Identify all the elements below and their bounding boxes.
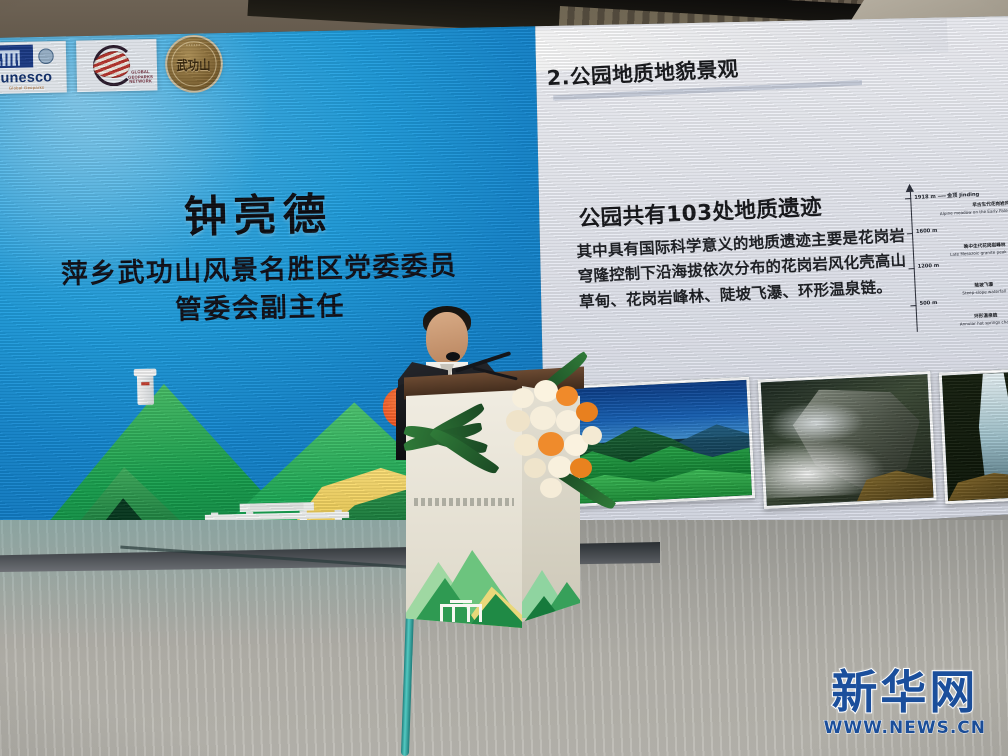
peak-name-zh: 金顶 bbox=[947, 193, 958, 200]
seal-arc-text: •••••• bbox=[167, 42, 221, 48]
unesco-wordmark: unesco bbox=[0, 69, 52, 85]
floor-screen-reflection bbox=[0, 520, 430, 640]
flower-arrangement bbox=[478, 370, 608, 520]
flower-bloom bbox=[534, 380, 558, 402]
peak-elevation: 1918 m bbox=[914, 194, 936, 201]
unesco-subtitle: Global Geoparks bbox=[9, 85, 45, 91]
unesco-emblem bbox=[0, 44, 62, 68]
gate-plaque bbox=[250, 502, 304, 509]
logo-row: unesco Global Geoparks GLOBAL GEOPARKS N… bbox=[0, 36, 221, 95]
flower-bloom bbox=[514, 434, 538, 456]
microphone-head-icon bbox=[446, 352, 460, 361]
elevation-annotation: 环形温泉链 Annular hot springs chain bbox=[959, 313, 1008, 327]
photo-misty-granite-cliff bbox=[757, 371, 936, 509]
flower-bloom bbox=[538, 432, 564, 456]
elevation-label-1200: 1200 m bbox=[918, 263, 940, 270]
photo-strip bbox=[543, 365, 1008, 540]
screenshot-root: unesco Global Geoparks GLOBAL GEOPARKS N… bbox=[0, 0, 1008, 756]
global-geoparks-network-logo: GLOBAL GEOPARKS NETWORK bbox=[76, 39, 157, 92]
xinhua-watermark: 新华网 WWW.NEWS.CN bbox=[824, 669, 986, 738]
photo-waterfall bbox=[939, 367, 1008, 504]
podium-gate-icon bbox=[440, 602, 482, 622]
elevation-annotation: 陡坡飞瀑 Steep-slope waterfall bbox=[962, 282, 1006, 295]
peak-name-en: Jinding bbox=[959, 192, 979, 199]
elevation-diagram: 1918 m ––––– 金顶 Jinding 早古生代花岗岩风化壳高山草甸 A… bbox=[899, 178, 1008, 339]
elevation-peak-label: 1918 m ––––– 金顶 Jinding bbox=[914, 191, 979, 201]
flower-bloom bbox=[506, 410, 530, 432]
flower-bloom bbox=[570, 458, 592, 478]
flower-bloom bbox=[540, 478, 562, 498]
flower-bloom bbox=[556, 386, 578, 406]
watermark-text-zh: 新华网 bbox=[824, 669, 986, 715]
unesco-logo: unesco Global Geoparks bbox=[0, 41, 67, 94]
slide-body-text: 其中具有国际科学意义的地质遗迹主要是花岗岩 穹隆控制下沿海拔依次分布的花岗岩风化… bbox=[576, 223, 919, 315]
unesco-globe-icon bbox=[33, 44, 62, 67]
watermark-text-en: WWW.NEWS.CN bbox=[824, 718, 986, 738]
flower-bloom bbox=[512, 388, 534, 408]
unesco-temple-icon bbox=[0, 45, 33, 69]
flower-bloom bbox=[548, 456, 572, 478]
flower-bloom bbox=[524, 458, 546, 478]
speaker-name: 钟亮德 bbox=[0, 175, 540, 250]
elevation-label-500: 500 m bbox=[919, 300, 937, 307]
elevation-annotation: 早古生代花岗岩风化壳高山草甸 Alpine meadow on the Earl… bbox=[939, 198, 1008, 215]
ggn-wordmark: GLOBAL GEOPARKS NETWORK bbox=[128, 70, 153, 85]
speaker-title-line1: 萍乡武功山风景名胜区党委委员 bbox=[61, 251, 458, 291]
elevation-annotation: 晚中生代花岗岩峰林 Late Mesozoic granite peak for… bbox=[950, 242, 1008, 256]
pagoda-tower-icon bbox=[137, 374, 154, 405]
annotation-en: Steep-slope waterfall bbox=[962, 288, 1006, 295]
ggn-line3: NETWORK bbox=[129, 79, 152, 85]
elevation-label-1600: 1600 m bbox=[916, 228, 938, 235]
wugongshan-seal-logo: •••••• 武功山 bbox=[167, 36, 222, 91]
seal-label: 武功山 bbox=[177, 54, 212, 74]
flower-bloom bbox=[530, 406, 556, 430]
flower-bloom bbox=[576, 402, 598, 422]
elevation-axis bbox=[910, 190, 918, 332]
flower-bloom bbox=[582, 426, 602, 445]
speaker-title-line2: 管委会副主任 bbox=[175, 291, 346, 326]
